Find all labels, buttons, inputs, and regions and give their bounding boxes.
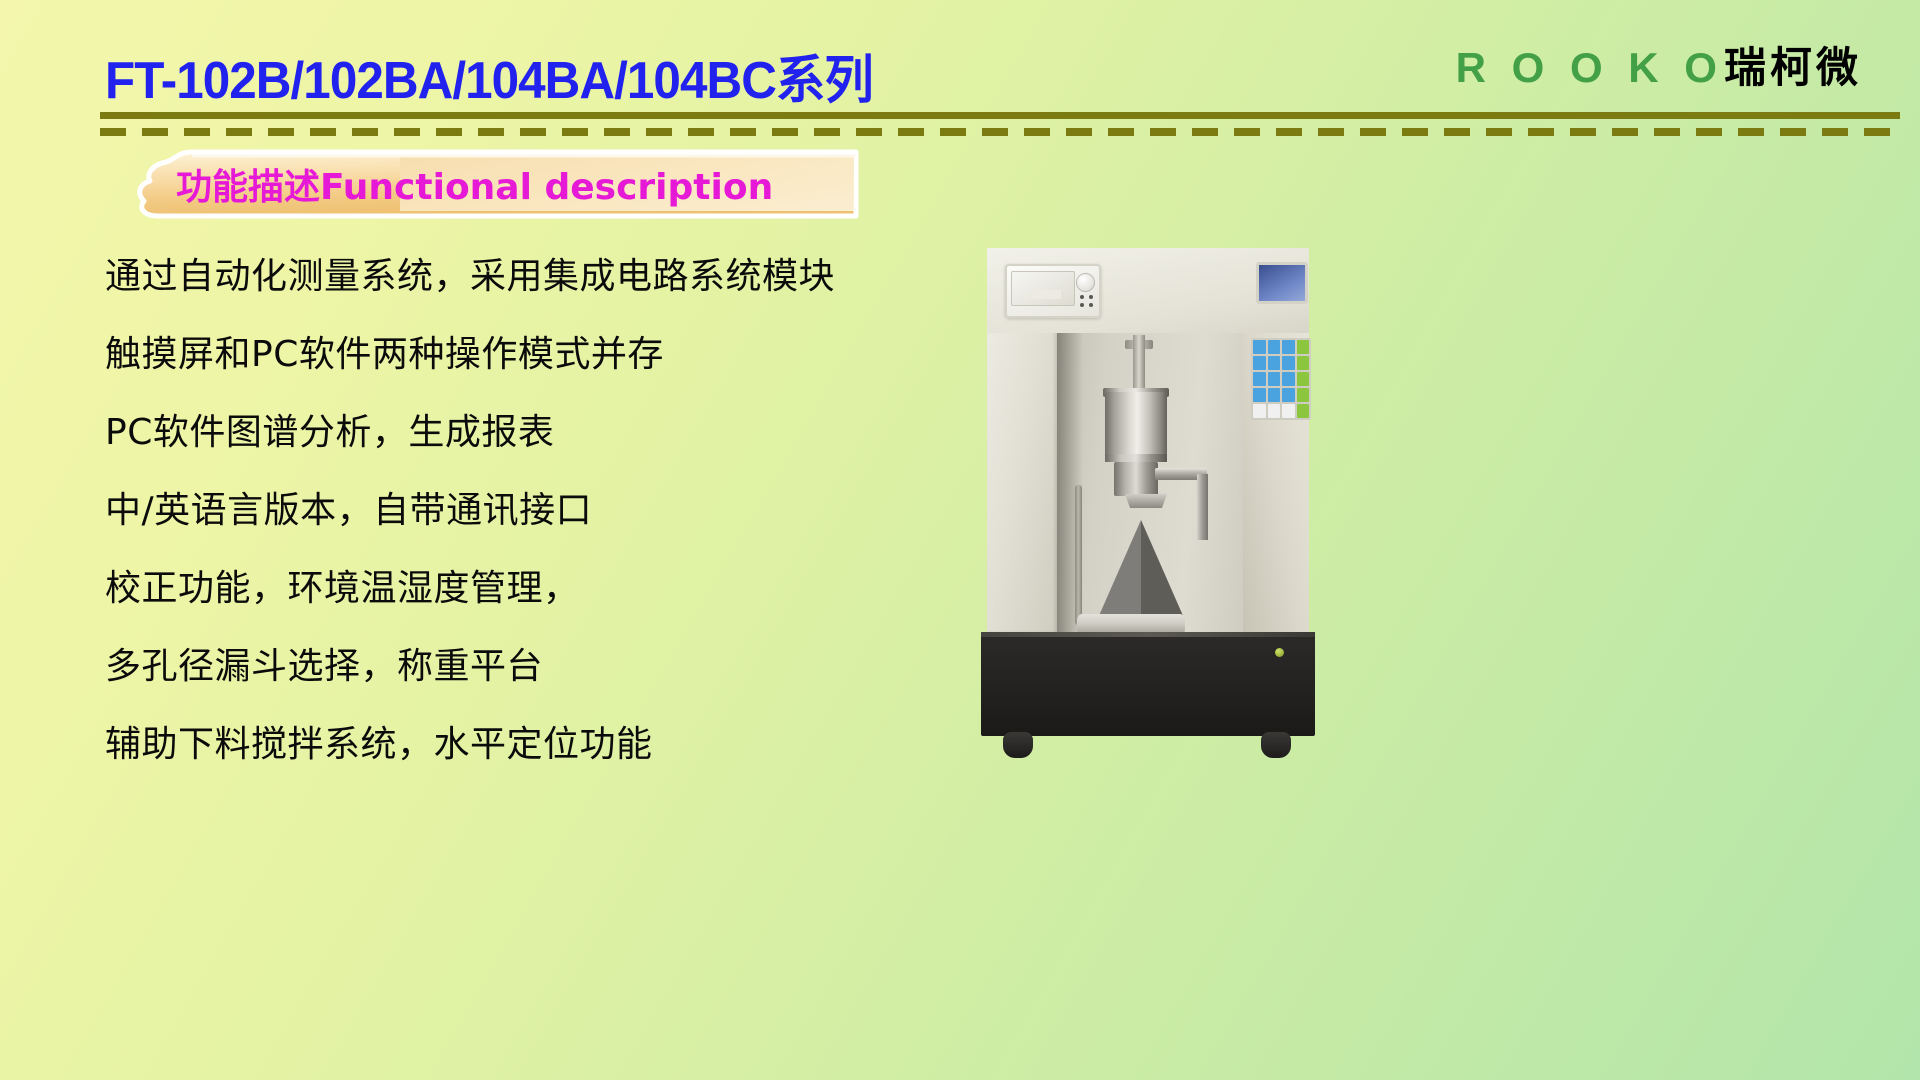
printer-led [1080, 295, 1084, 299]
brand-logo: R O O K O瑞柯微 [1456, 44, 1862, 92]
base-indicator-dot [1275, 648, 1284, 657]
slide-canvas: FT-102B/102BA/104BA/104BC系列 R O O K O瑞柯微 [0, 0, 1920, 1080]
keypad-key [1282, 372, 1295, 386]
metal-cylinder [1105, 392, 1167, 460]
header-solid-rule [100, 112, 1900, 119]
feature-item: 通过自动化测量系统，采用集成电路系统模块 [105, 238, 985, 316]
keypad-key [1268, 340, 1281, 354]
cylinder-bottom-band [1105, 454, 1167, 462]
feature-item: 中/英语言版本，自带通讯接口 [105, 472, 985, 550]
scraper-blade [1125, 494, 1167, 508]
section-badge-label: 功能描述Functional description [176, 158, 773, 210]
feature-item: 多孔径漏斗选择，称重平台 [105, 628, 985, 706]
keypad-key [1297, 372, 1310, 386]
printer-led [1089, 295, 1093, 299]
product-photo [975, 240, 1320, 760]
feature-item: 辅助下料搅拌系统，水平定位功能 [105, 706, 985, 784]
instrument-base-cabinet [981, 632, 1315, 736]
printer-window [1011, 271, 1075, 306]
printer-led [1080, 303, 1084, 307]
keypad-key [1268, 388, 1281, 402]
header-dashed-rule [100, 128, 1900, 136]
brand-latin-text: R O O K O [1456, 44, 1724, 91]
keypad-key [1297, 340, 1310, 354]
keypad-key [1253, 372, 1266, 386]
keypad-key [1268, 356, 1281, 370]
slide-header: FT-102B/102BA/104BA/104BC系列 R O O K O瑞柯微 [0, 0, 1920, 150]
feature-item: 校正功能，环境温湿度管理， [105, 550, 985, 628]
keypad-key [1282, 340, 1295, 354]
feature-item: PC软件图谱分析，生成报表 [105, 394, 985, 472]
keypad-key [1253, 404, 1266, 418]
brand-cjk-text: 瑞柯微 [1724, 43, 1862, 92]
instrument-keypad [1251, 338, 1311, 420]
keypad-key [1282, 404, 1295, 418]
base-top-highlight [981, 632, 1315, 637]
section-badge: 功能描述Functional description [100, 148, 860, 220]
printer-knob [1076, 273, 1095, 292]
printer-led [1089, 303, 1093, 307]
nozzle-block [1114, 462, 1158, 496]
keypad-key [1268, 372, 1281, 386]
keypad-key [1297, 388, 1310, 402]
keypad-key [1253, 356, 1266, 370]
feature-item: 触摸屏和PC软件两种操作模式并存 [105, 316, 985, 394]
keypad-key [1282, 356, 1295, 370]
powder-cone-highlight [1098, 520, 1141, 618]
instrument-foot [1261, 732, 1291, 758]
keypad-key [1253, 388, 1266, 402]
keypad-key [1268, 404, 1281, 418]
keypad-key [1297, 356, 1310, 370]
support-arm-drop [1197, 474, 1208, 540]
keypad-key [1282, 388, 1295, 402]
instrument-foot [1003, 732, 1033, 758]
page-title: FT-102B/102BA/104BA/104BC系列 [105, 38, 873, 113]
keypad-key [1297, 404, 1310, 418]
feature-list: 通过自动化测量系统，采用集成电路系统模块 触摸屏和PC软件两种操作模式并存 PC… [105, 238, 985, 784]
keypad-key [1253, 340, 1266, 354]
instrument-vertical-rail [1075, 485, 1082, 625]
instrument-display-screen [1256, 262, 1308, 304]
